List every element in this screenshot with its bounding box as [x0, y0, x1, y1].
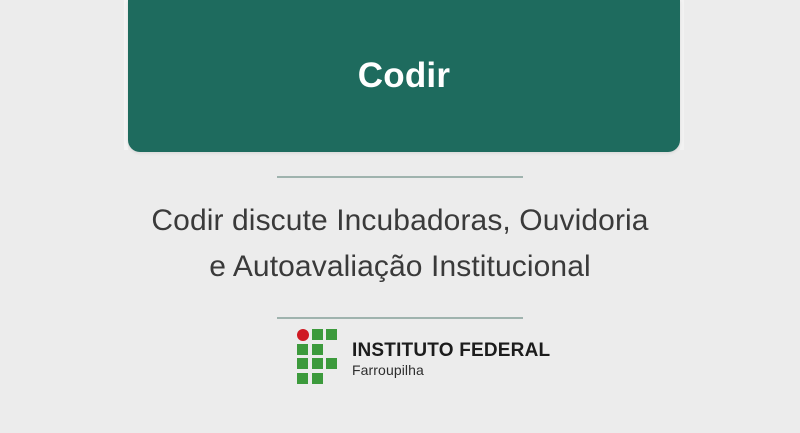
- logo-green-cell: [312, 329, 323, 340]
- institution-name: INSTITUTO FEDERAL: [352, 341, 550, 362]
- logo-green-cell: [312, 344, 323, 355]
- logo-green-cell: [312, 358, 323, 369]
- divider-bottom: [277, 317, 523, 319]
- logo-red-dot: [297, 329, 309, 341]
- logo-green-cell: [326, 329, 337, 340]
- logo-green-cell: [312, 373, 323, 384]
- logo-green-cell: [326, 358, 337, 369]
- instituto-federal-logo-mark-icon: [297, 329, 341, 382]
- logo-green-cell: [297, 358, 308, 369]
- institution-logo-text: INSTITUTO FEDERAL Farroupilha: [352, 332, 550, 380]
- divider-top: [277, 176, 523, 178]
- header-banner: Codir: [128, 0, 680, 152]
- logo-green-cell: [297, 373, 308, 384]
- logo-green-cell: [297, 344, 308, 355]
- banner-edge-right: [680, 0, 684, 150]
- institution-logo: INSTITUTO FEDERAL Farroupilha: [297, 329, 550, 382]
- page-title-line-2: e Autoavaliação Institucional: [100, 244, 700, 290]
- banner-title: Codir: [358, 58, 450, 95]
- institution-campus: Farroupilha: [352, 361, 550, 379]
- page-title: Codir discute Incubadoras, Ouvidoria e A…: [100, 198, 700, 290]
- promo-card: Codir Codir discute Incubadoras, Ouvidor…: [0, 0, 800, 433]
- page-title-line-1: Codir discute Incubadoras, Ouvidoria: [100, 198, 700, 244]
